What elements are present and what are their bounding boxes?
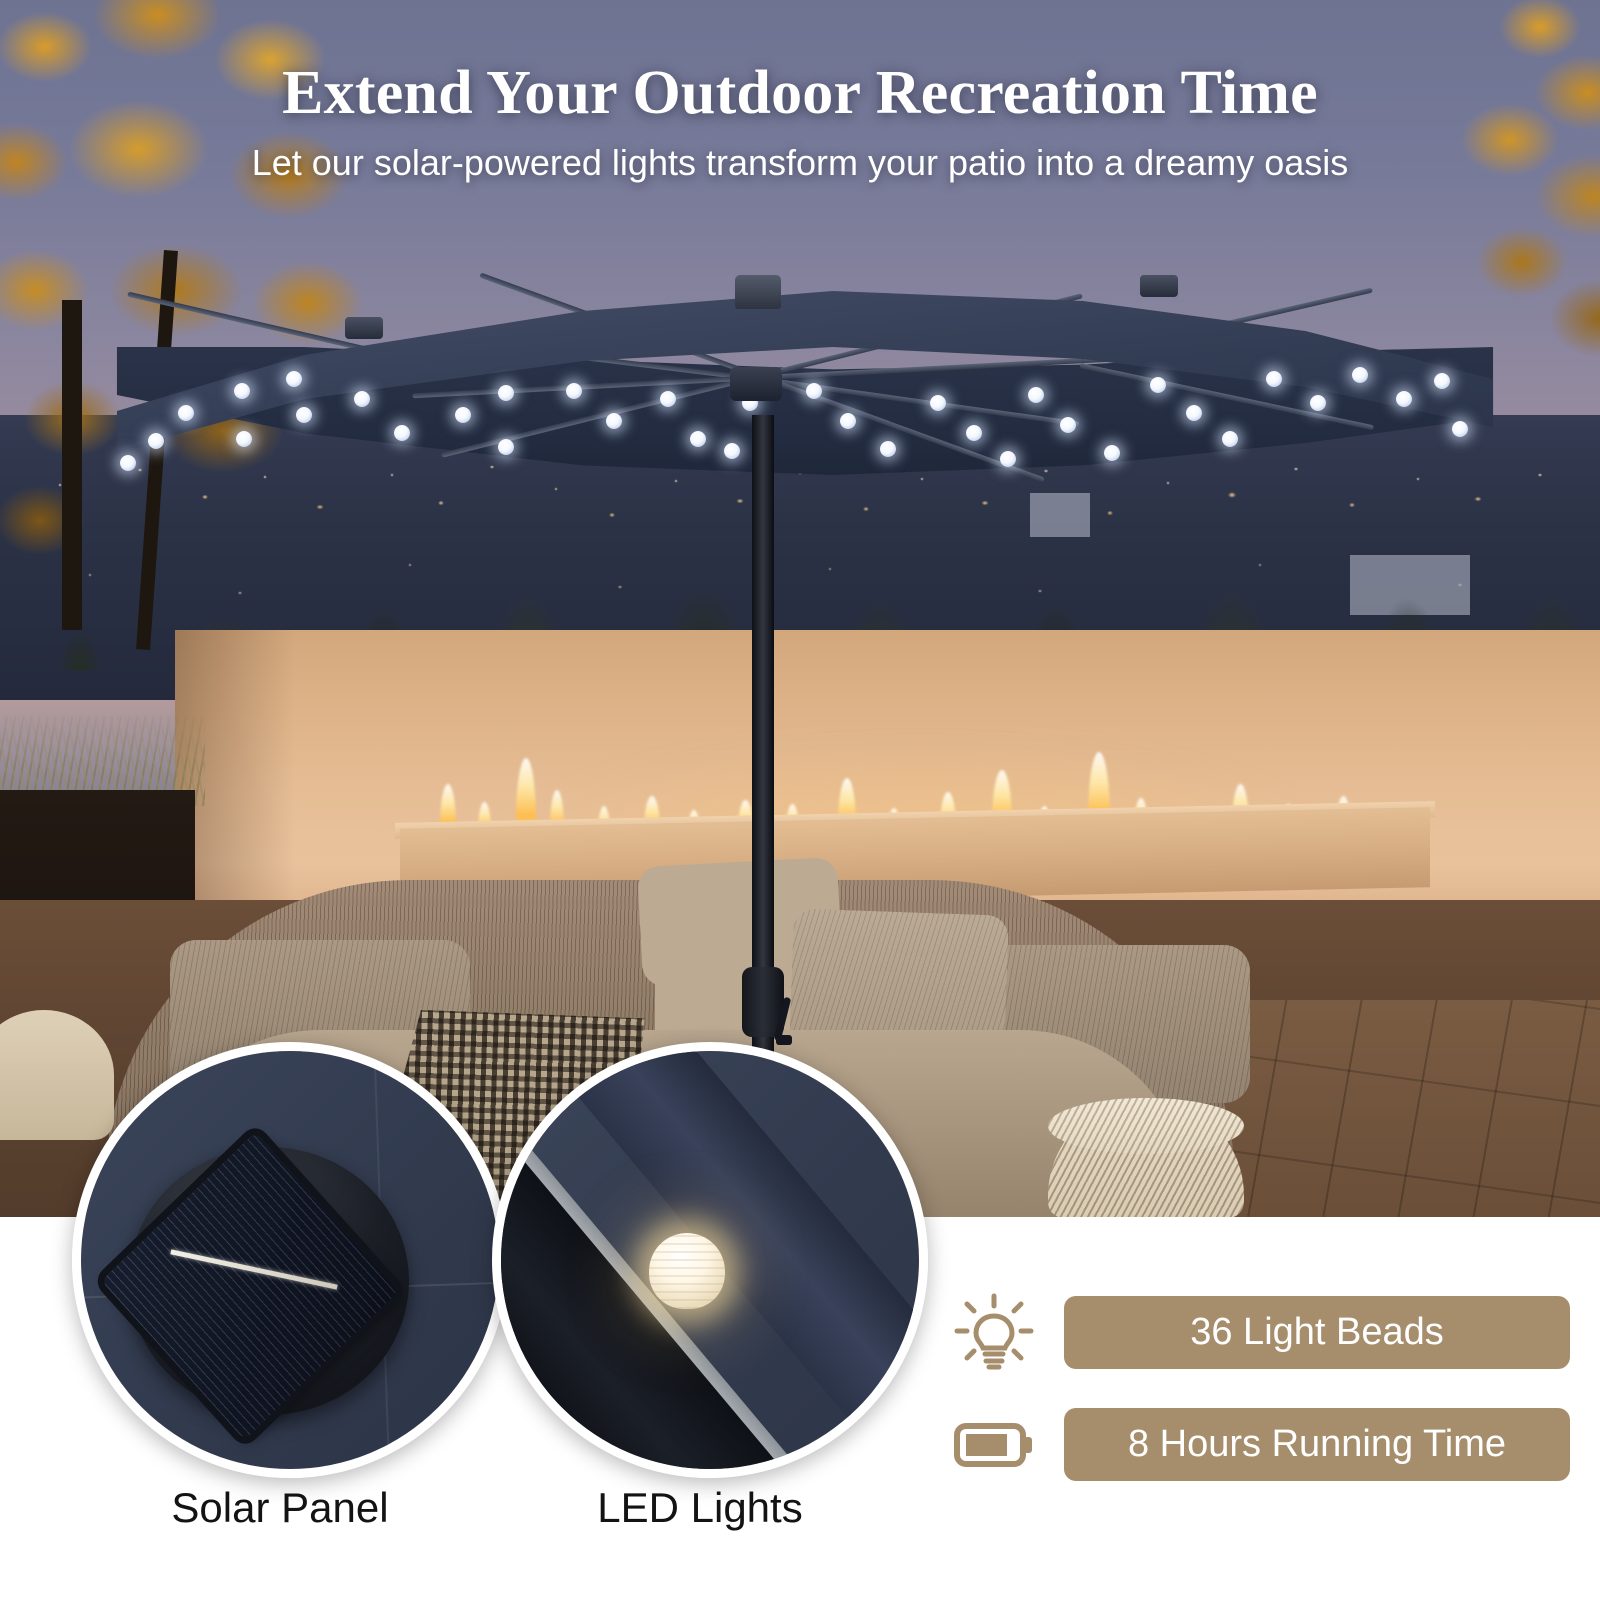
led-light <box>296 407 312 423</box>
battery-icon <box>950 1400 1038 1488</box>
led-light <box>1266 371 1282 387</box>
led-light <box>1310 395 1326 411</box>
product-marketing-image: Extend Your Outdoor Recreation Time Let … <box>0 0 1600 1600</box>
led-light <box>840 413 856 429</box>
canopy-end-cap <box>1140 275 1178 297</box>
led-light <box>286 371 302 387</box>
feature-row-light-beads: 36 Light Beads <box>950 1288 1570 1376</box>
patio-umbrella <box>0 255 1600 915</box>
led-light <box>880 441 896 457</box>
led-light <box>566 383 582 399</box>
lightbulb-icon <box>950 1288 1038 1376</box>
led-light <box>806 383 822 399</box>
led-light <box>690 431 706 447</box>
inset-led-lights <box>492 1042 928 1478</box>
canopy-top-cap <box>735 275 781 309</box>
led-light <box>236 431 252 447</box>
page-subheadline: Let our solar-powered lights transform y… <box>0 142 1600 184</box>
led-light <box>1352 367 1368 383</box>
led-light <box>1150 377 1166 393</box>
caption-solar-panel: Solar Panel <box>70 1484 490 1532</box>
led-bulb-ribs <box>649 1233 725 1309</box>
led-light <box>1396 391 1412 407</box>
led-light <box>660 391 676 407</box>
feature-list: 36 Light Beads 8 Hours Running Time <box>950 1288 1570 1512</box>
led-light <box>148 433 164 449</box>
canopy-end-cap <box>345 317 383 339</box>
feature-row-running-time: 8 Hours Running Time <box>950 1400 1570 1488</box>
badge-running-time: 8 Hours Running Time <box>1064 1408 1570 1481</box>
led-light <box>1222 431 1238 447</box>
led-light <box>234 383 250 399</box>
led-light <box>1028 387 1044 403</box>
led-light <box>966 425 982 441</box>
led-light <box>1452 421 1468 437</box>
led-light <box>498 439 514 455</box>
led-light <box>120 455 136 471</box>
led-light <box>1434 373 1450 389</box>
led-light <box>930 395 946 411</box>
led-light <box>178 405 194 421</box>
led-light <box>455 407 471 423</box>
led-light <box>1104 445 1120 461</box>
led-light <box>1060 417 1076 433</box>
led-bulb <box>649 1233 725 1309</box>
caption-led-lights: LED Lights <box>490 1484 910 1532</box>
badge-light-beads: 36 Light Beads <box>1064 1296 1570 1369</box>
led-light <box>1000 451 1016 467</box>
woven-pouf-top <box>1048 1098 1244 1154</box>
led-light <box>724 443 740 459</box>
canopy-hub <box>730 367 782 401</box>
inset-solar-panel <box>72 1042 508 1478</box>
crank-handle <box>776 1035 792 1045</box>
led-light <box>498 385 514 401</box>
led-light <box>394 425 410 441</box>
page-headline: Extend Your Outdoor Recreation Time <box>0 58 1600 129</box>
scene-photo: Extend Your Outdoor Recreation Time Let … <box>0 0 1600 1217</box>
led-light <box>606 413 622 429</box>
led-light <box>354 391 370 407</box>
led-light <box>1186 405 1202 421</box>
